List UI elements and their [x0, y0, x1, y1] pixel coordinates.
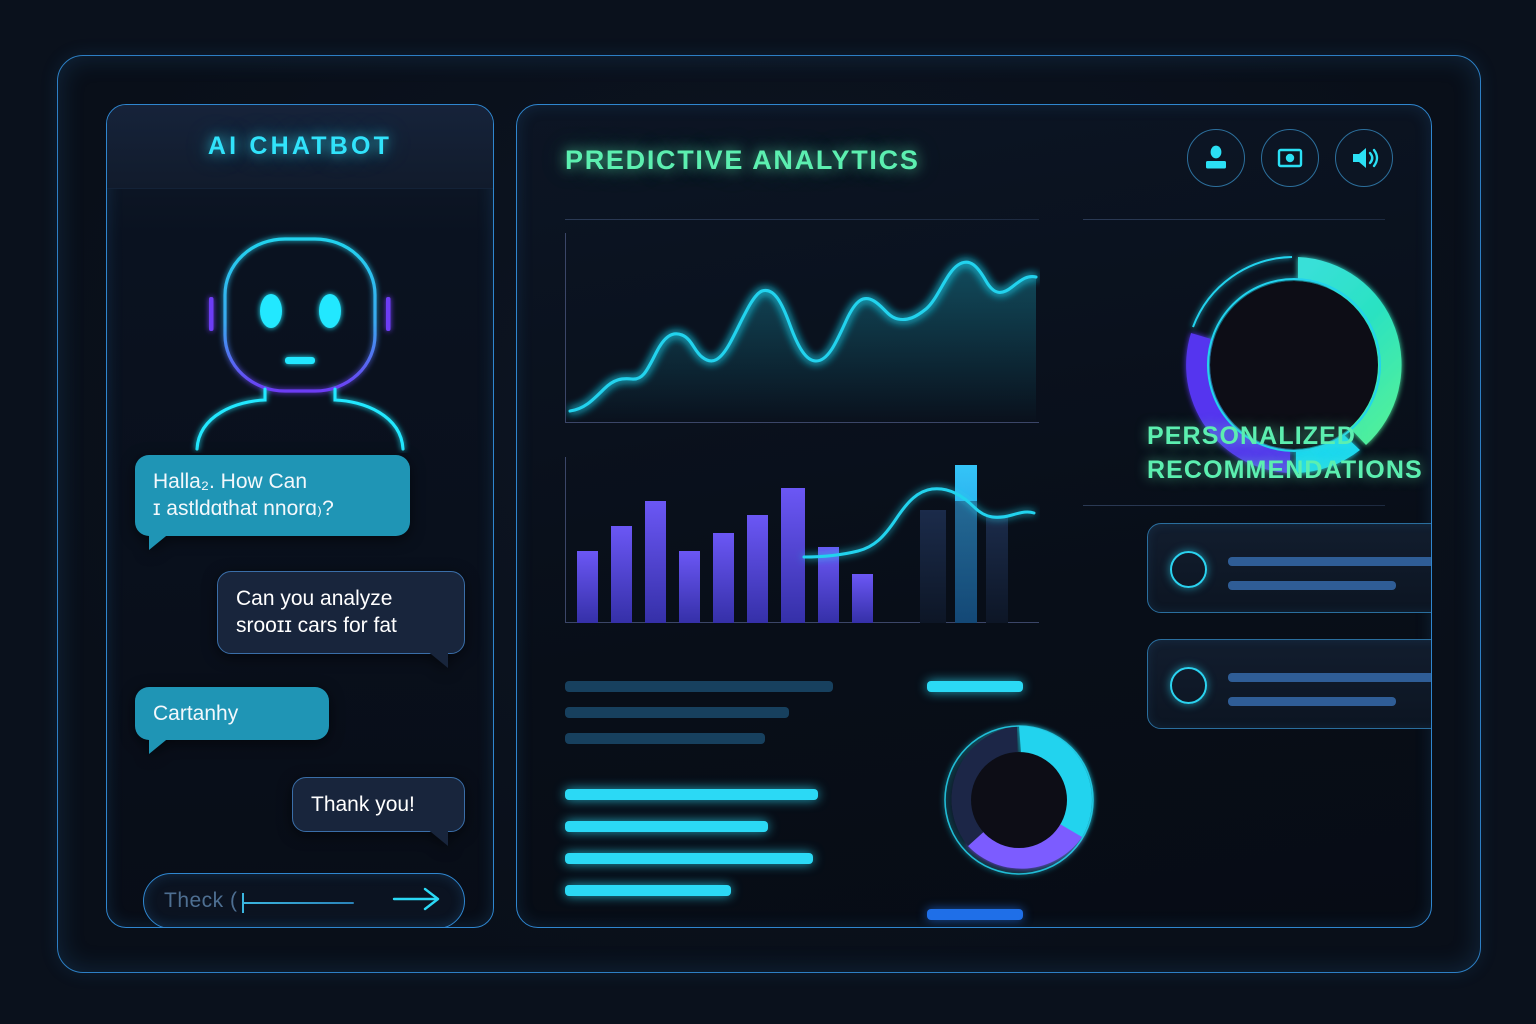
- chat-header: AI CHATBOT: [107, 105, 493, 189]
- segment-bar-chart: [565, 457, 1039, 623]
- recommendations-title-line-1: PERSONALIZED: [1147, 422, 1356, 450]
- recommendation-card-2[interactable]: [1147, 639, 1432, 729]
- speaker-volume-icon[interactable]: [1335, 129, 1393, 187]
- circle-indicator-icon: [1170, 667, 1207, 704]
- donut-label-bar-top: [927, 681, 1023, 692]
- divider-left: [565, 219, 1039, 220]
- chat-message-bot-1: Halla₂. How Can ɪ astldɑthat nnorɑ₎?: [135, 455, 410, 536]
- chat-message-line: Can you analyze: [236, 585, 446, 612]
- robot-avatar-icon: [185, 223, 415, 453]
- recommendations-title-line-2: RECOMMENDATIONS: [1147, 456, 1423, 484]
- chat-panel: AI CHATBOT: [106, 104, 494, 928]
- text-placeholder-bar: [565, 707, 789, 718]
- recommendation-line: [1228, 673, 1432, 682]
- page-title: PREDICTIVE ANALYTICS: [565, 145, 920, 176]
- recommendation-card-1[interactable]: [1147, 523, 1432, 613]
- forecast-line-chart: [565, 233, 1039, 423]
- chat-input-placeholder: Theck (: [164, 889, 238, 913]
- text-placeholder-bar: [565, 681, 833, 692]
- chat-message-line: Halla₂. How Can: [153, 468, 392, 495]
- dashboard-panel: PREDICTIVE ANALYTICS: [516, 104, 1432, 928]
- arrow-right-icon[interactable]: [392, 886, 444, 917]
- toolbar-icons: [1187, 129, 1393, 187]
- recommendation-line: [1228, 581, 1396, 590]
- text-placeholder-bar-active: [565, 821, 768, 832]
- divider-right-bottom: [1083, 505, 1385, 506]
- donut-label-bar-bottom: [927, 909, 1023, 920]
- chat-message-line: ɪ astldɑthat nnorɑ₎?: [153, 495, 392, 522]
- text-cursor-line: [242, 902, 354, 904]
- divider-right-top: [1083, 219, 1385, 220]
- chat-input-row[interactable]: Theck (: [143, 873, 465, 928]
- text-placeholder-bar-active: [565, 789, 818, 800]
- text-placeholder-bar-active: [565, 853, 813, 864]
- recommendations-title: PERSONALIZED RECOMMENDATIONS: [1147, 420, 1432, 487]
- small-donut-chart: [929, 710, 1109, 890]
- chat-message-user-1: Can you analyze srooɪɪ cars for fat: [217, 571, 465, 654]
- recommendation-line: [1228, 697, 1396, 706]
- recommendation-line: [1228, 557, 1432, 566]
- chat-message-line: srooɪɪ cars for fat: [236, 612, 446, 639]
- text-placeholder-bar: [565, 733, 765, 744]
- chat-message-bot-2: Cartanhy: [135, 687, 329, 740]
- chat-message-line: Cartanhy: [153, 700, 311, 727]
- user-profile-icon[interactable]: [1187, 129, 1245, 187]
- chat-message-line: Thank you!: [311, 791, 446, 818]
- chat-message-user-2: Thank you!: [292, 777, 465, 832]
- app-frame: AI CHATBOT: [57, 55, 1481, 973]
- camera-icon[interactable]: [1261, 129, 1319, 187]
- chat-title: AI CHATBOT: [208, 132, 392, 161]
- text-placeholder-bar-active: [565, 885, 731, 896]
- circle-indicator-icon: [1170, 551, 1207, 588]
